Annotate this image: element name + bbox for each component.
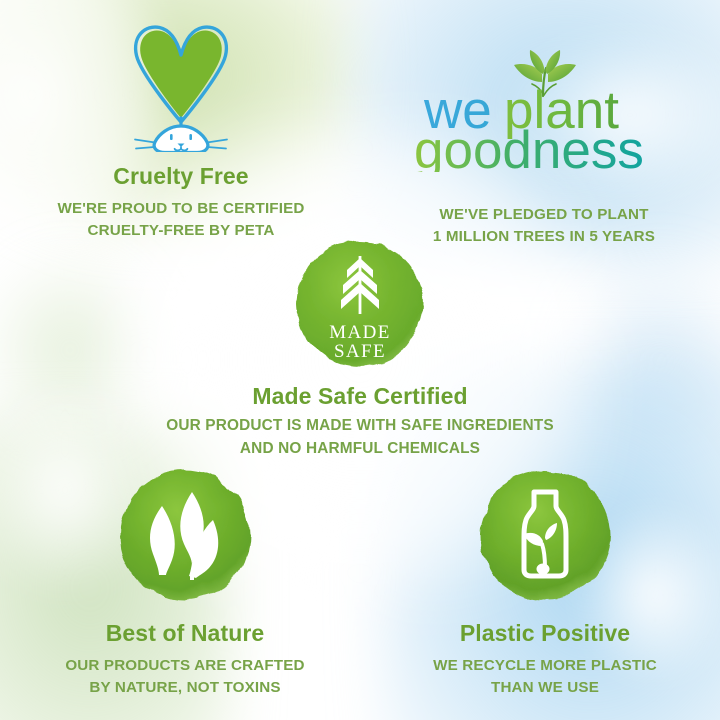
logo-word-goodness: goodness	[414, 121, 644, 172]
seal-text-made: MADE	[329, 322, 391, 343]
we-plant-goodness-logo: we plant goodness	[414, 50, 674, 172]
seal-text-safe: SAFE	[334, 341, 386, 362]
badge-visual-we-plant-goodness: we plant goodness	[388, 50, 700, 172]
badge-plastic-positive: Plastic Positive WE RECYCLE MORE PLASTIC…	[390, 462, 700, 699]
badge-made-safe: MADE SAFE Made Safe Certified OUR PRODUC…	[162, 234, 558, 460]
badge-visual-best-of-nature	[22, 462, 348, 608]
badge-title: Plastic Positive	[390, 621, 700, 646]
badge-visual-plastic-positive	[390, 462, 700, 608]
made-safe-leaf-seal-icon: MADE SAFE	[290, 234, 430, 374]
peta-cruelty-free-bunny-heart-icon	[119, 18, 243, 152]
badge-we-plant-goodness: we plant goodness WE'VE PLEDGED TO PLANT…	[388, 50, 700, 248]
badge-title: Cruelty Free	[20, 164, 342, 189]
bottle-with-sprout-icon	[472, 462, 618, 608]
badge-title: Best of Nature	[22, 621, 348, 646]
badge-best-of-nature: Best of Nature OUR PRODUCTS ARE CRAFTED …	[22, 462, 348, 699]
badge-title: Made Safe Certified	[162, 384, 558, 409]
badge-description: OUR PRODUCTS ARE CRAFTED BY NATURE, NOT …	[22, 655, 348, 699]
badge-description: WE RECYCLE MORE PLASTIC THAN WE USE	[390, 655, 700, 699]
badge-visual-cruelty-free	[20, 18, 342, 152]
badge-cruelty-free: Cruelty Free WE'RE PROUD TO BE CERTIFIED…	[20, 18, 342, 242]
three-leaves-icon	[112, 462, 258, 608]
badge-description: OUR PRODUCT IS MADE WITH SAFE INGREDIENT…	[162, 415, 558, 460]
badge-visual-made-safe: MADE SAFE	[162, 234, 558, 374]
eco-claims-infographic: Cruelty Free WE'RE PROUD TO BE CERTIFIED…	[0, 0, 720, 720]
